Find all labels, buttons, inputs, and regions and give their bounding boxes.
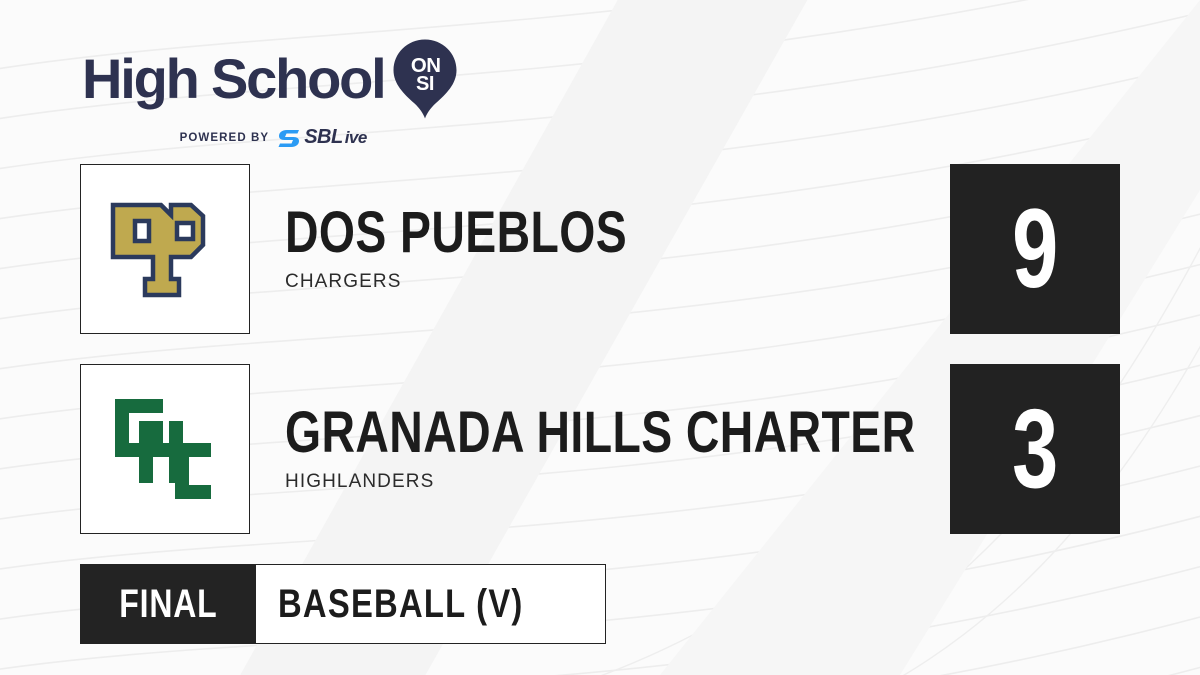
team-score: 3 (1012, 393, 1058, 505)
team-score-box: 9 (950, 164, 1120, 334)
dos-pueblos-dp-monogram-icon (99, 183, 231, 315)
sport-label: BASEBALL (V) (278, 584, 524, 624)
team-logo-card (80, 364, 250, 534)
brand-logo-row: High School ON SI (82, 38, 458, 120)
brand-logo[interactable]: High School ON SI POWERED BY SBL ive (82, 38, 458, 149)
team-name: GRANADA HILLS CHARTER (285, 405, 915, 461)
high-school-wordmark: High School (82, 51, 384, 107)
status-badge: FINAL (81, 565, 256, 643)
sblive-s-icon (278, 128, 302, 148)
team-row[interactable]: GRANADA HILLS CHARTER HIGHLANDERS (80, 364, 1073, 534)
team-logo-card (80, 164, 250, 334)
sblive-wordmark-suffix: ive (345, 128, 367, 148)
team-score: 9 (1012, 193, 1058, 305)
powered-by-label: POWERED BY (180, 132, 270, 144)
team-info: DOS PUEBLOS CHARGERS (285, 205, 713, 293)
team-mascot: CHARGERS (285, 271, 713, 293)
svg-text:SI: SI (417, 73, 435, 95)
status-state-label: FINAL (119, 584, 217, 624)
sport-label-container: BASEBALL (V) (256, 565, 605, 643)
team-name: DOS PUEBLOS (285, 205, 627, 261)
sblive-logo: SBL ive (278, 126, 367, 149)
on-si-pin-icon: ON SI (392, 38, 458, 120)
powered-by-sblive: POWERED BY SBL ive (82, 126, 458, 149)
granada-hills-ghc-monogram-icon (105, 387, 225, 511)
team-score-box: 3 (950, 364, 1120, 534)
team-row[interactable]: DOS PUEBLOS CHARGERS (80, 164, 713, 334)
sblive-wordmark: SBL (304, 126, 343, 149)
game-status-bar: FINAL BASEBALL (V) (80, 564, 606, 644)
